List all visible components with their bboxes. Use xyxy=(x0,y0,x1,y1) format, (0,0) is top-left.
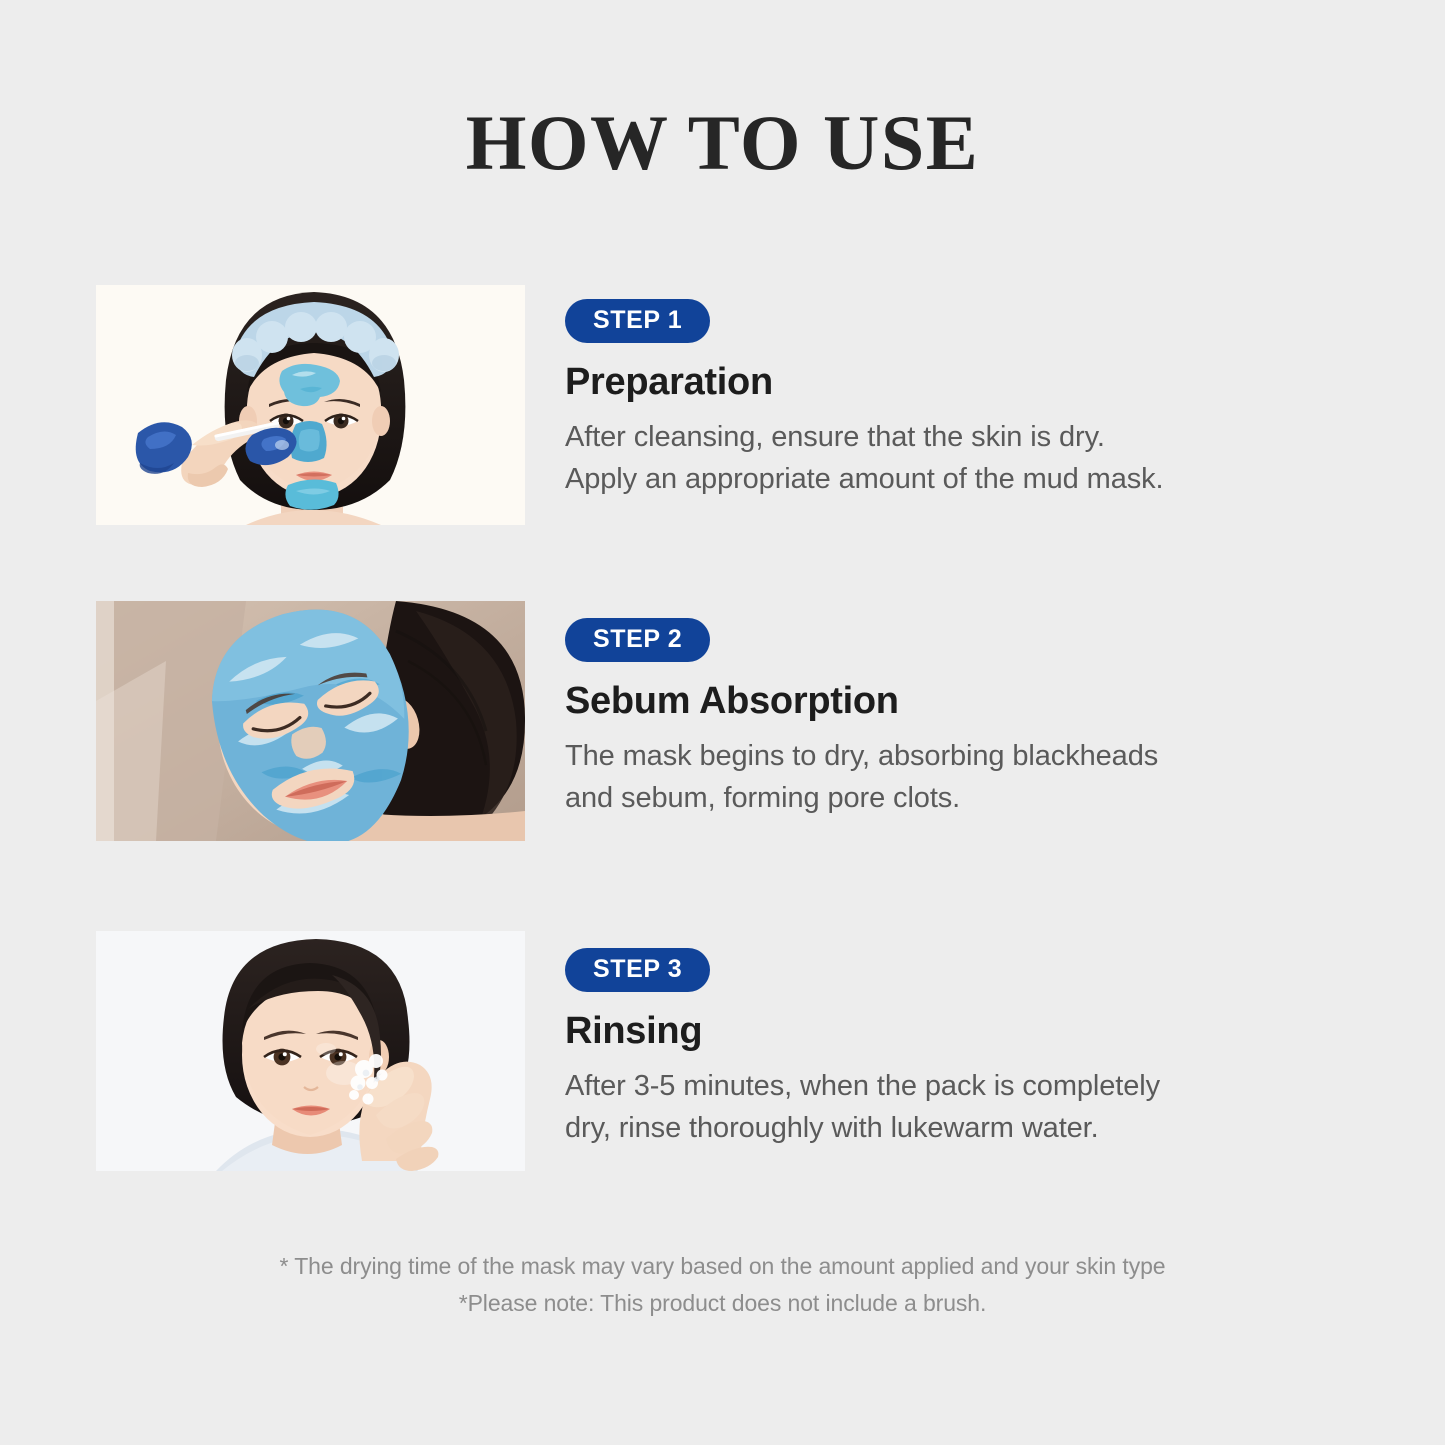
step-3-heading: Rinsing xyxy=(565,1010,1365,1053)
how-to-use-page: HOW TO USE xyxy=(0,0,1445,1445)
page-title: HOW TO USE xyxy=(0,104,1445,182)
step-1-text-block: STEP 1 Preparation After cleansing, ensu… xyxy=(565,285,1365,501)
step-2-heading: Sebum Absorption xyxy=(565,680,1365,723)
step-2-description: The mask begins to dry, absorbing blackh… xyxy=(565,735,1365,821)
step-1-badge: STEP 1 xyxy=(565,299,710,343)
footnotes: * The drying time of the mask may vary b… xyxy=(0,1248,1445,1323)
step-1-illustration xyxy=(96,285,525,525)
step-1-description: After cleansing, ensure that the skin is… xyxy=(565,416,1365,502)
step-2-badge: STEP 2 xyxy=(565,618,710,662)
step-2-photo xyxy=(96,601,525,841)
step-2-text-block: STEP 2 Sebum Absorption The mask begins … xyxy=(565,601,1365,820)
step-1-heading: Preparation xyxy=(565,361,1365,404)
step-2-desc-line-1: The mask begins to dry, absorbing blackh… xyxy=(565,735,1365,778)
step-1-photo xyxy=(96,285,525,525)
step-1-desc-line-1: After cleansing, ensure that the skin is… xyxy=(565,416,1365,459)
step-3-desc-line-1: After 3-5 minutes, when the pack is comp… xyxy=(565,1065,1365,1108)
step-3-text-block: STEP 3 Rinsing After 3-5 minutes, when t… xyxy=(565,931,1365,1150)
step-2-desc-line-2: and sebum, forming pore clots. xyxy=(565,777,1365,820)
step-3-photo xyxy=(96,931,525,1171)
step-2-illustration xyxy=(96,601,525,841)
step-3-description: After 3-5 minutes, when the pack is comp… xyxy=(565,1065,1365,1151)
step-1-desc-line-2: Apply an appropriate amount of the mud m… xyxy=(565,458,1365,501)
footnote-drying-time: * The drying time of the mask may vary b… xyxy=(0,1248,1445,1285)
footnote-no-brush: *Please note: This product does not incl… xyxy=(0,1285,1445,1322)
mask-patch-chin xyxy=(285,479,338,509)
step-3-desc-line-2: dry, rinse thoroughly with lukewarm wate… xyxy=(565,1107,1365,1150)
hand-with-foam xyxy=(349,1054,438,1171)
step-3-illustration xyxy=(96,931,525,1171)
step-3-badge: STEP 3 xyxy=(565,948,710,992)
